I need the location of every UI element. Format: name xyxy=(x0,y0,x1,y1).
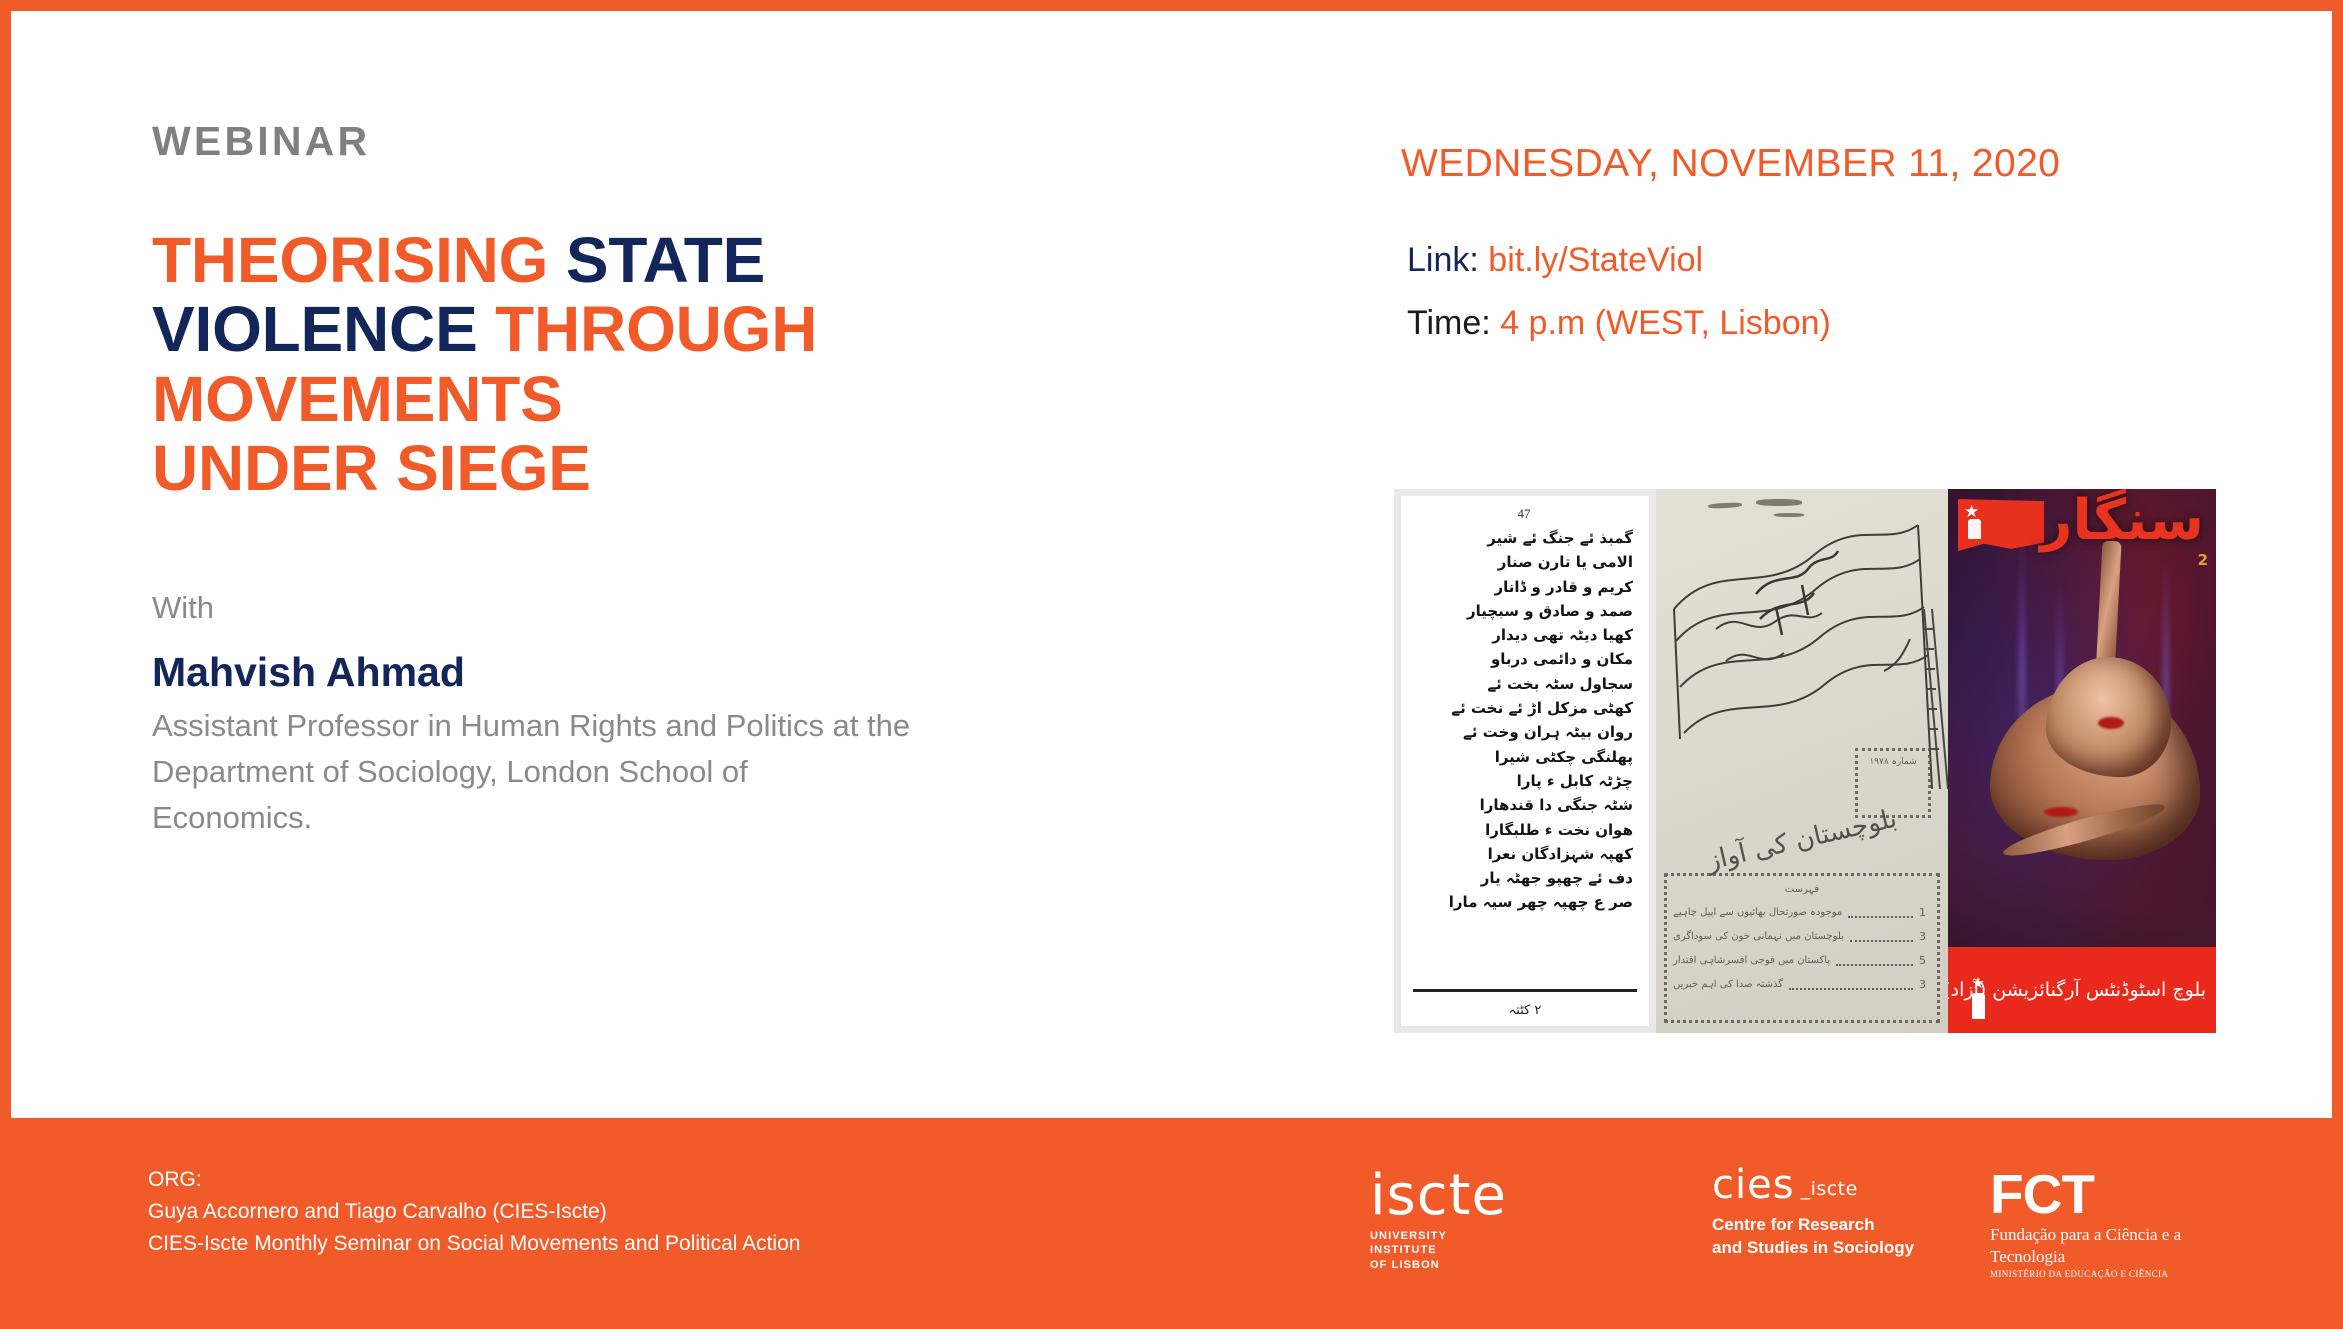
poster-footer: ORG: Guya Accornero and Tiago Carvalho (… xyxy=(0,1118,2343,1329)
verse-line: کھپہ شہزادگان نعرا xyxy=(1411,842,1633,866)
iscte-tagline-line: UNIVERSITY xyxy=(1370,1229,1507,1244)
link-value[interactable]: bit.ly/StateViol xyxy=(1488,241,1703,279)
toc-text: موجودہ صورتحال بھائیوں سے اپیل چاہیے xyxy=(1673,907,1842,918)
title-seg-through: THROUGH xyxy=(495,293,817,365)
toc-row: 5 پاکستان میں فوجی افسرشاہی اقتدار xyxy=(1673,954,1931,967)
right-column: WEDNESDAY, NOVEMBER 11, 2020 Link: bit.l… xyxy=(1401,143,2281,348)
event-meta: Link: bit.ly/StateViol Time: 4 p.m (WEST… xyxy=(1401,236,2281,349)
toc-text: گذشتہ صدا کی اہم خبریں xyxy=(1673,979,1783,990)
verse-line: الامی یا تارن صنار xyxy=(1411,550,1633,574)
verse-line: پھلنگی چکٹی شیرا xyxy=(1411,745,1633,769)
toc-page: 1 xyxy=(1919,906,1931,919)
toc-page: 3 xyxy=(1919,930,1931,943)
title-seg-movements: MOVEMENTS xyxy=(152,363,563,435)
page-title: THEORISING STATE VIOLENCE THROUGH MOVEME… xyxy=(152,226,1212,504)
title-seg-theorising: THEORISING xyxy=(152,224,566,296)
toc-leader xyxy=(1789,980,1913,990)
toc-text: بلوچستان میں نہمانی خون کی سوداگری xyxy=(1673,931,1844,942)
collage-panel-magazine-cover: ★ سنگار 2 ★ بلوچ اسٹوڈنٹس آرگنائزیشن (آز… xyxy=(1948,489,2216,1033)
organiser-block: ORG: Guya Accornero and Tiago Carvalho (… xyxy=(148,1164,800,1260)
verse-line: کھٹی مزکل اڑ ئے نخت ئے xyxy=(1411,696,1633,720)
verse-line: مکان و دائمی درباو xyxy=(1411,647,1633,671)
toc-row: 3 بلوچستان میں نہمانی خون کی سوداگری xyxy=(1673,930,1931,943)
scan-issue-corner: شمارہ ۱۹۷۸ xyxy=(1855,748,1931,818)
cies-suffix: _iscte xyxy=(1801,1178,1858,1204)
iscte-wordmark: iscte xyxy=(1370,1170,1507,1222)
iscte-logo: iscte UNIVERSITY INSTITUTE OF LISBON xyxy=(1370,1170,1507,1272)
iscte-tagline: UNIVERSITY INSTITUTE OF LISBON xyxy=(1370,1229,1507,1273)
toc-text: پاکستان میں فوجی افسرشاہی اقتدار xyxy=(1673,955,1830,966)
org-label: ORG: xyxy=(148,1164,800,1196)
verse-line: شٹہ جنگی دا قندھارا xyxy=(1411,793,1633,817)
verse-line: گمبذ ئے جنگ ئے شیر xyxy=(1411,526,1633,550)
toc-leader xyxy=(1836,956,1913,966)
magazine-issue-number: 2 xyxy=(2198,551,2208,569)
webinar-poster: WEBINAR THEORISING STATE VIOLENCE THROUG… xyxy=(0,0,2343,1329)
speaker-name: Mahvish Ahmad xyxy=(152,648,1212,697)
archive-image-collage: 47 گمبذ ئے جنگ ئے شیر الامی یا تارن صنار… xyxy=(1394,489,2216,1033)
poetry-footer-note: ۲ کٹتہ xyxy=(1415,1003,1635,1018)
verse-line: دف ئے چھپو جھٹہ یار xyxy=(1411,866,1633,890)
toc-page: 3 xyxy=(1919,978,1931,991)
collage-panel-poetry: 47 گمبذ ئے جنگ ئے شیر الامی یا تارن صنار… xyxy=(1394,489,1656,1033)
poetry-verses: گمبذ ئے جنگ ئے شیر الامی یا تارن صنار کر… xyxy=(1411,526,1637,915)
link-label: Link: xyxy=(1407,241,1479,279)
magazine-title: سنگار xyxy=(2040,493,2204,549)
torch-icon xyxy=(1972,993,1985,1019)
cover-bottom-band: ★ بلوچ اسٹوڈنٹس آرگنائزیشن (آزاد) xyxy=(1948,947,2216,1033)
poster-canvas: WEBINAR THEORISING STATE VIOLENCE THROUG… xyxy=(11,11,2332,1118)
time-value: 4 p.m (WEST, Lisbon) xyxy=(1500,304,1831,342)
toc-leader xyxy=(1848,908,1913,918)
fct-ministry: MINISTÉRIO DA EDUCAÇÃO E CIÊNCIA xyxy=(1990,1269,2240,1279)
toc-row: 3 گذشتہ صدا کی اہم خبریں xyxy=(1673,978,1931,991)
eyebrow-label: WEBINAR xyxy=(152,121,1212,162)
event-time-row: Time: 4 p.m (WEST, Lisbon) xyxy=(1407,299,2281,348)
title-line-1: THEORISING STATE xyxy=(152,226,1212,295)
fct-wordmark: FCT xyxy=(1990,1168,2240,1220)
logo-row: iscte UNIVERSITY INSTITUTE OF LISBON cie… xyxy=(1370,1154,2240,1294)
with-label: With xyxy=(152,589,1212,626)
toc-heading: فہرست xyxy=(1673,884,1931,895)
verse-line: سجاول سٹہ بخت ئے xyxy=(1411,672,1633,696)
verse-line: کریم و قادر و ڈانار xyxy=(1411,575,1633,599)
scan-table-of-contents: شمارہ ۱۹۷۸ فہرست 1 موجودہ صورتحال بھائیو… xyxy=(1664,873,1940,1023)
event-link-row: Link: bit.ly/StateViol xyxy=(1407,236,2281,285)
blood-spot xyxy=(2044,807,2078,817)
title-seg-violence: VIOLENCE xyxy=(152,293,495,365)
title-line-3: MOVEMENTS xyxy=(152,365,1212,434)
cies-tagline: Centre for Research and Studies in Socio… xyxy=(1712,1214,1914,1260)
band-emblem-icon: ★ xyxy=(1960,976,1996,1019)
cies-wordmark: cies xyxy=(1712,1166,1795,1204)
verse-line: ھوان نخت ء طلبگارا xyxy=(1411,818,1633,842)
cies-tagline-line: Centre for Research xyxy=(1712,1214,1914,1237)
event-date: WEDNESDAY, NOVEMBER 11, 2020 xyxy=(1401,143,2281,186)
star-icon: ★ xyxy=(1960,976,1996,991)
poetry-rule xyxy=(1413,989,1637,992)
blood-spot xyxy=(2098,717,2124,729)
verse-line: روان بیٹہ ہران وخت ئے xyxy=(1411,720,1633,744)
cies-tagline-line: and Studies in Sociology xyxy=(1712,1237,1914,1260)
verse-line: کھیا دیٹہ تھی دیدار xyxy=(1411,623,1633,647)
fct-tagline: Fundação para a Ciência e a Tecnologia xyxy=(1990,1224,2240,1267)
poetry-folio-number: 47 xyxy=(1411,506,1637,522)
speaker-role: Assistant Professor in Human Rights and … xyxy=(152,703,912,841)
title-seg-state: STATE xyxy=(566,224,765,296)
torch-icon xyxy=(1968,519,1981,539)
iscte-tagline-line: INSTITUTE xyxy=(1370,1243,1507,1258)
toc-page: 5 xyxy=(1919,954,1931,967)
left-column: WEBINAR THEORISING STATE VIOLENCE THROUG… xyxy=(152,121,1212,841)
cies-iscte-logo: cies _iscte Centre for Research and Stud… xyxy=(1712,1166,1914,1260)
title-seg-under-siege: UNDER SIEGE xyxy=(152,432,591,504)
iscte-tagline-line: OF LISBON xyxy=(1370,1258,1507,1273)
title-line-4: UNDER SIEGE xyxy=(152,434,1212,503)
verse-line: صمد و صادق و سبچیار xyxy=(1411,599,1633,623)
verse-line: چڑٹہ کابل ء پارا xyxy=(1411,769,1633,793)
org-series: CIES-Iscte Monthly Seminar on Social Mov… xyxy=(148,1228,800,1260)
time-label: Time: xyxy=(1407,304,1491,342)
star-icon: ★ xyxy=(1964,503,1979,520)
toc-leader xyxy=(1850,932,1913,942)
verse-line: صر ع چھپہ چھر سیہ مارا xyxy=(1411,890,1633,914)
cies-wordmark-row: cies _iscte xyxy=(1712,1166,1914,1204)
org-organisers: Guya Accornero and Tiago Carvalho (CIES-… xyxy=(148,1196,800,1228)
title-line-2: VIOLENCE THROUGH xyxy=(152,295,1212,364)
collage-panel-flag-drawing: بلوچستان کی آواز شمارہ ۱۹۷۸ فہرست 1 موجو… xyxy=(1656,489,1948,1033)
toc-row: 1 موجودہ صورتحال بھائیوں سے اپیل چاہیے xyxy=(1673,906,1931,919)
fct-logo: FCT Fundação para a Ciência e a Tecnolog… xyxy=(1990,1168,2240,1279)
